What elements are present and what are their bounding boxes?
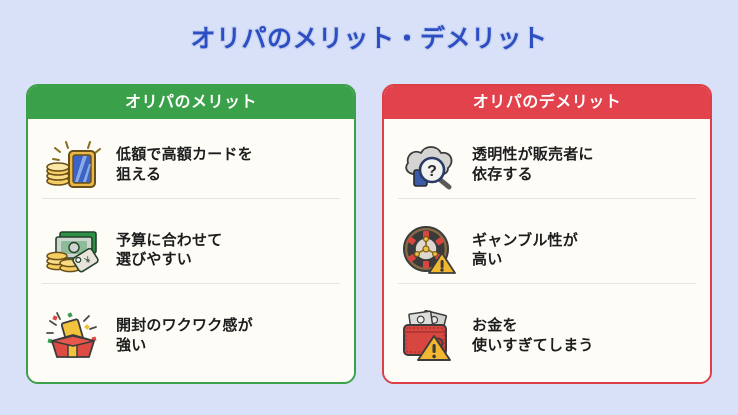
list-item-label: 予算に合わせて 選びやすい	[116, 231, 222, 271]
roulette-warning-icon	[400, 224, 458, 276]
list-item: ¥ 予算に合わせて 選びやすい	[42, 217, 340, 284]
shiny-card-coins-icon	[44, 139, 102, 191]
cloud-magnifier-question-icon: ?	[400, 139, 458, 191]
page-title: オリパのメリット・デメリット	[0, 0, 738, 54]
list-item: 低額で高額カードを 狙える	[42, 132, 340, 199]
panels-container: オリパのメリット	[0, 84, 738, 384]
list-item-label: 開封のワクワク感が 強い	[116, 316, 253, 356]
wallet-cash-warning-icon	[400, 310, 458, 362]
demerit-panel: オリパのデメリット ? 透明性が販売者に 依存する	[382, 84, 712, 384]
list-item: ギャンブル性が 高い	[398, 217, 696, 284]
list-item-label: 低額で高額カードを 狙える	[116, 145, 253, 185]
merit-panel-header: オリパのメリット	[28, 86, 354, 119]
list-item: 開封のワクワク感が 強い	[42, 303, 340, 369]
merit-panel: オリパのメリット	[26, 84, 356, 384]
list-item: お金を 使いすぎてしまう	[398, 303, 696, 369]
list-item: ? 透明性が販売者に 依存する	[398, 132, 696, 199]
infographic-page: オリパのメリット・デメリット オリパのメリット	[0, 0, 738, 415]
list-item-label: ギャンブル性が 高い	[472, 231, 578, 271]
merit-panel-body: 低額で高額カードを 狙える	[28, 119, 354, 382]
svg-text:?: ?	[427, 163, 437, 180]
demerit-panel-body: ? 透明性が販売者に 依存する	[384, 119, 710, 382]
demerit-panel-header: オリパのデメリット	[384, 86, 710, 119]
money-price-tag-icon: ¥	[44, 224, 102, 276]
list-item-label: お金を 使いすぎてしまう	[472, 316, 594, 356]
open-gift-box-icon	[44, 310, 102, 362]
list-item-label: 透明性が販売者に 依存する	[472, 145, 594, 185]
